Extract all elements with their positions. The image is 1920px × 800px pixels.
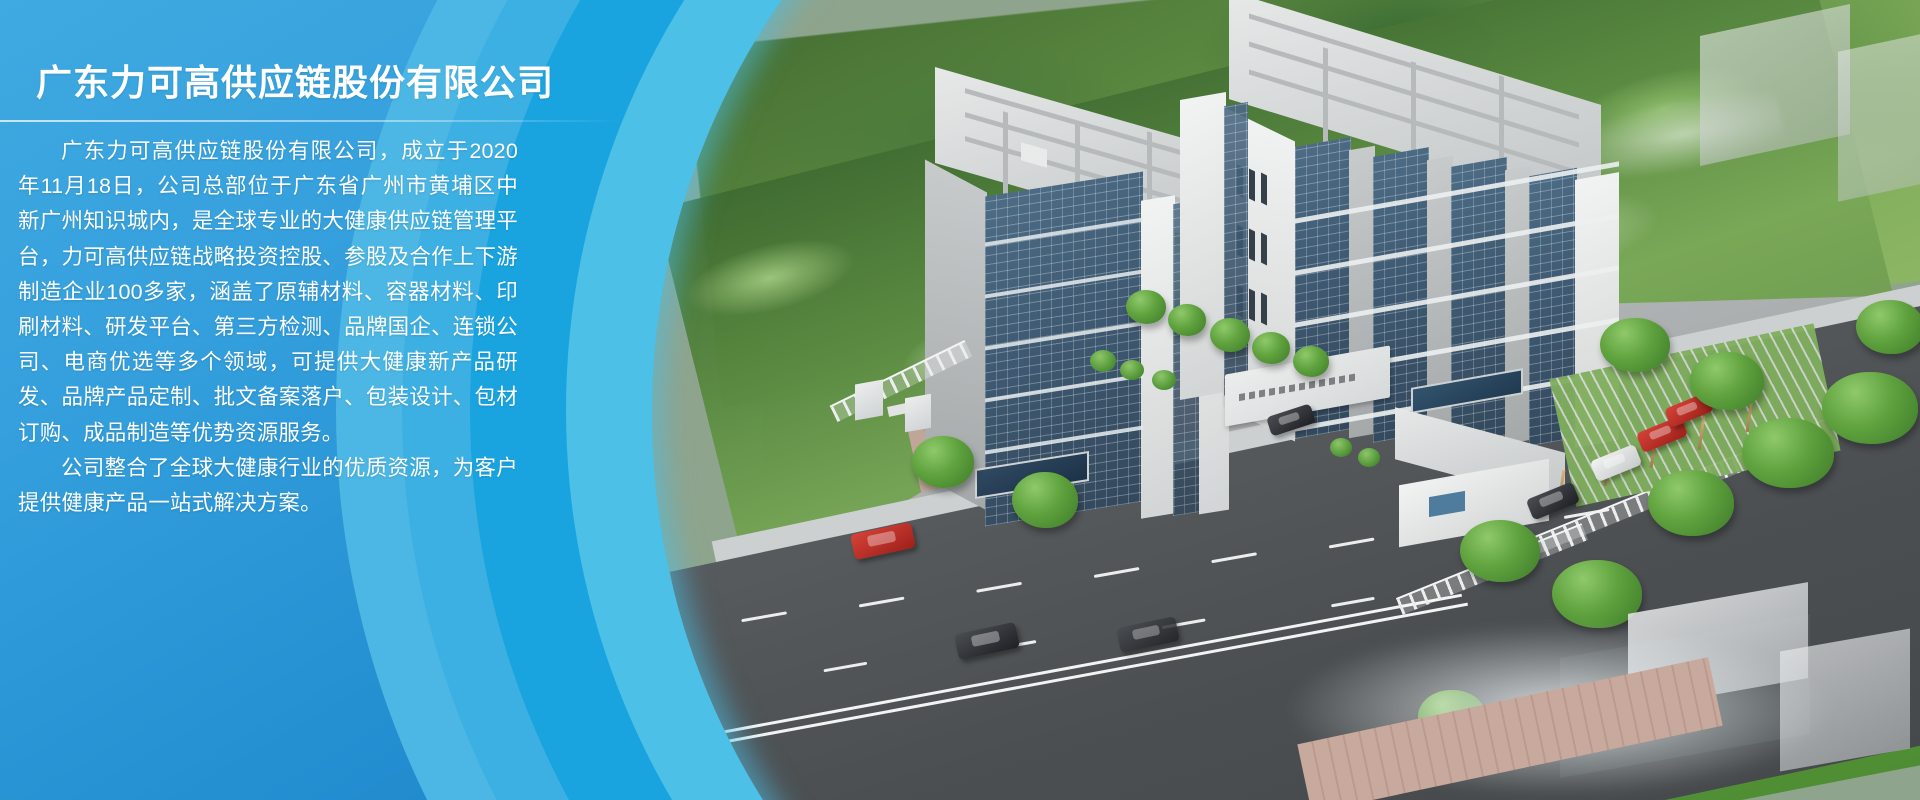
photo-circle-mask xyxy=(652,0,1920,800)
facade-pier xyxy=(1505,166,1531,445)
lawn-tree xyxy=(1600,318,1670,372)
ghost-building xyxy=(1838,28,1920,201)
banner-stage: 广东力可高供应链股份有限公司 广东力可高供应链股份有限公司，成立于2020年11… xyxy=(0,0,1920,800)
page-title: 广东力可高供应链股份有限公司 xyxy=(36,54,554,106)
street-tree xyxy=(1252,332,1290,364)
hedge-bush xyxy=(1120,360,1144,380)
hedge-bush xyxy=(1090,350,1116,372)
street-tree xyxy=(1293,346,1329,377)
hedge-bush xyxy=(1152,370,1176,390)
hedge-bush xyxy=(1330,438,1352,457)
tower-pier xyxy=(1141,195,1175,518)
lawn-tree xyxy=(1648,470,1734,536)
street-tree xyxy=(1168,304,1206,336)
slit-window xyxy=(1261,173,1267,206)
company-description: 广东力可高供应链股份有限公司，成立于2020年11月18日，公司总部位于广东省广… xyxy=(18,134,518,521)
lane-dash xyxy=(741,611,787,622)
sign-wall-lettering xyxy=(1239,373,1357,401)
slit-window xyxy=(1261,233,1267,266)
title-divider xyxy=(0,120,620,122)
street-tree xyxy=(1012,472,1078,528)
street-tree xyxy=(1210,318,1250,352)
paragraph-2: 公司整合了全球大健康行业的优质资源，为客户提供健康产品一站式解决方案。 xyxy=(18,451,518,521)
lane-dash xyxy=(1329,538,1375,549)
gate-post xyxy=(855,380,883,421)
street-tree xyxy=(912,436,974,488)
lane-dash xyxy=(976,582,1022,593)
atmospheric-mist xyxy=(1180,560,1920,800)
slit-window xyxy=(1261,293,1267,326)
gate-post xyxy=(905,394,931,433)
street-tree xyxy=(1126,290,1166,324)
text-column: 广东力可高供应链股份有限公司 广东力可高供应链股份有限公司，成立于2020年11… xyxy=(0,0,620,800)
lawn-tree xyxy=(1690,352,1764,410)
lawn-tree xyxy=(1822,372,1918,444)
core-wall xyxy=(1180,92,1226,400)
lane-dash xyxy=(859,597,905,608)
paragraph-1: 广东力可高供应链股份有限公司，成立于2020年11月18日，公司总部位于广东省广… xyxy=(18,134,518,451)
lane-dash xyxy=(1094,567,1140,578)
lawn-tree xyxy=(1856,300,1920,354)
facility-aerial-photo xyxy=(652,0,1920,800)
core-glass xyxy=(1224,102,1248,396)
lawn-tree xyxy=(1742,418,1834,488)
lane-dash xyxy=(823,662,867,673)
hedge-bush xyxy=(1358,448,1380,467)
